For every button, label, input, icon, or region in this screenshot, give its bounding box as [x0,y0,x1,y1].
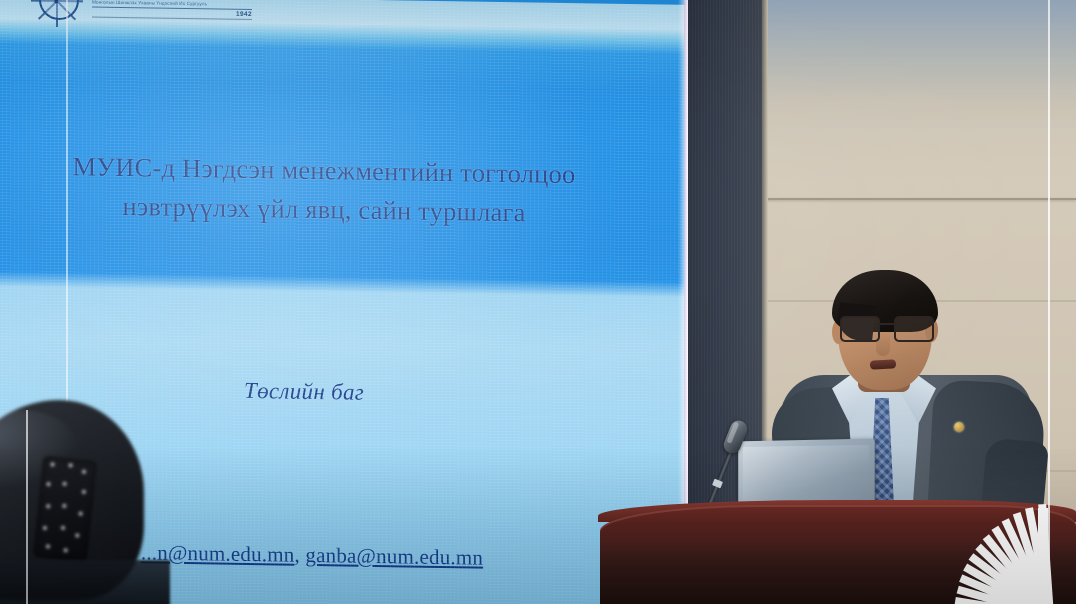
hair-clip-icon [33,455,97,562]
right-vertical-guide-line [1048,0,1050,604]
lapel-pin-icon [954,422,964,432]
photo-stage: ? ДЭД БҮТЦИЙН ШИНЖЛЭХ УХААНЫ СУРГУУЛЬ Мо… [0,0,1076,604]
eyeglasses-icon [836,316,936,338]
email-secondary: ganba@num.edu.mn [305,543,483,570]
email-separator: , [295,543,306,567]
foreground-vertical-line [26,410,28,604]
slide-title: МУИС-д Нэгдсэн менежментийн тогтолцоо нэ… [0,146,654,235]
podium-shadow [600,540,1076,604]
slide-logo: ? ДЭД БҮТЦИЙН ШИНЖЛЭХ УХААНЫ СУРГУУЛЬ Мо… [20,0,250,30]
emblem-glyph: ? [28,0,86,14]
university-emblem-icon: ? [28,0,86,31]
speaker-mouth [870,359,896,369]
